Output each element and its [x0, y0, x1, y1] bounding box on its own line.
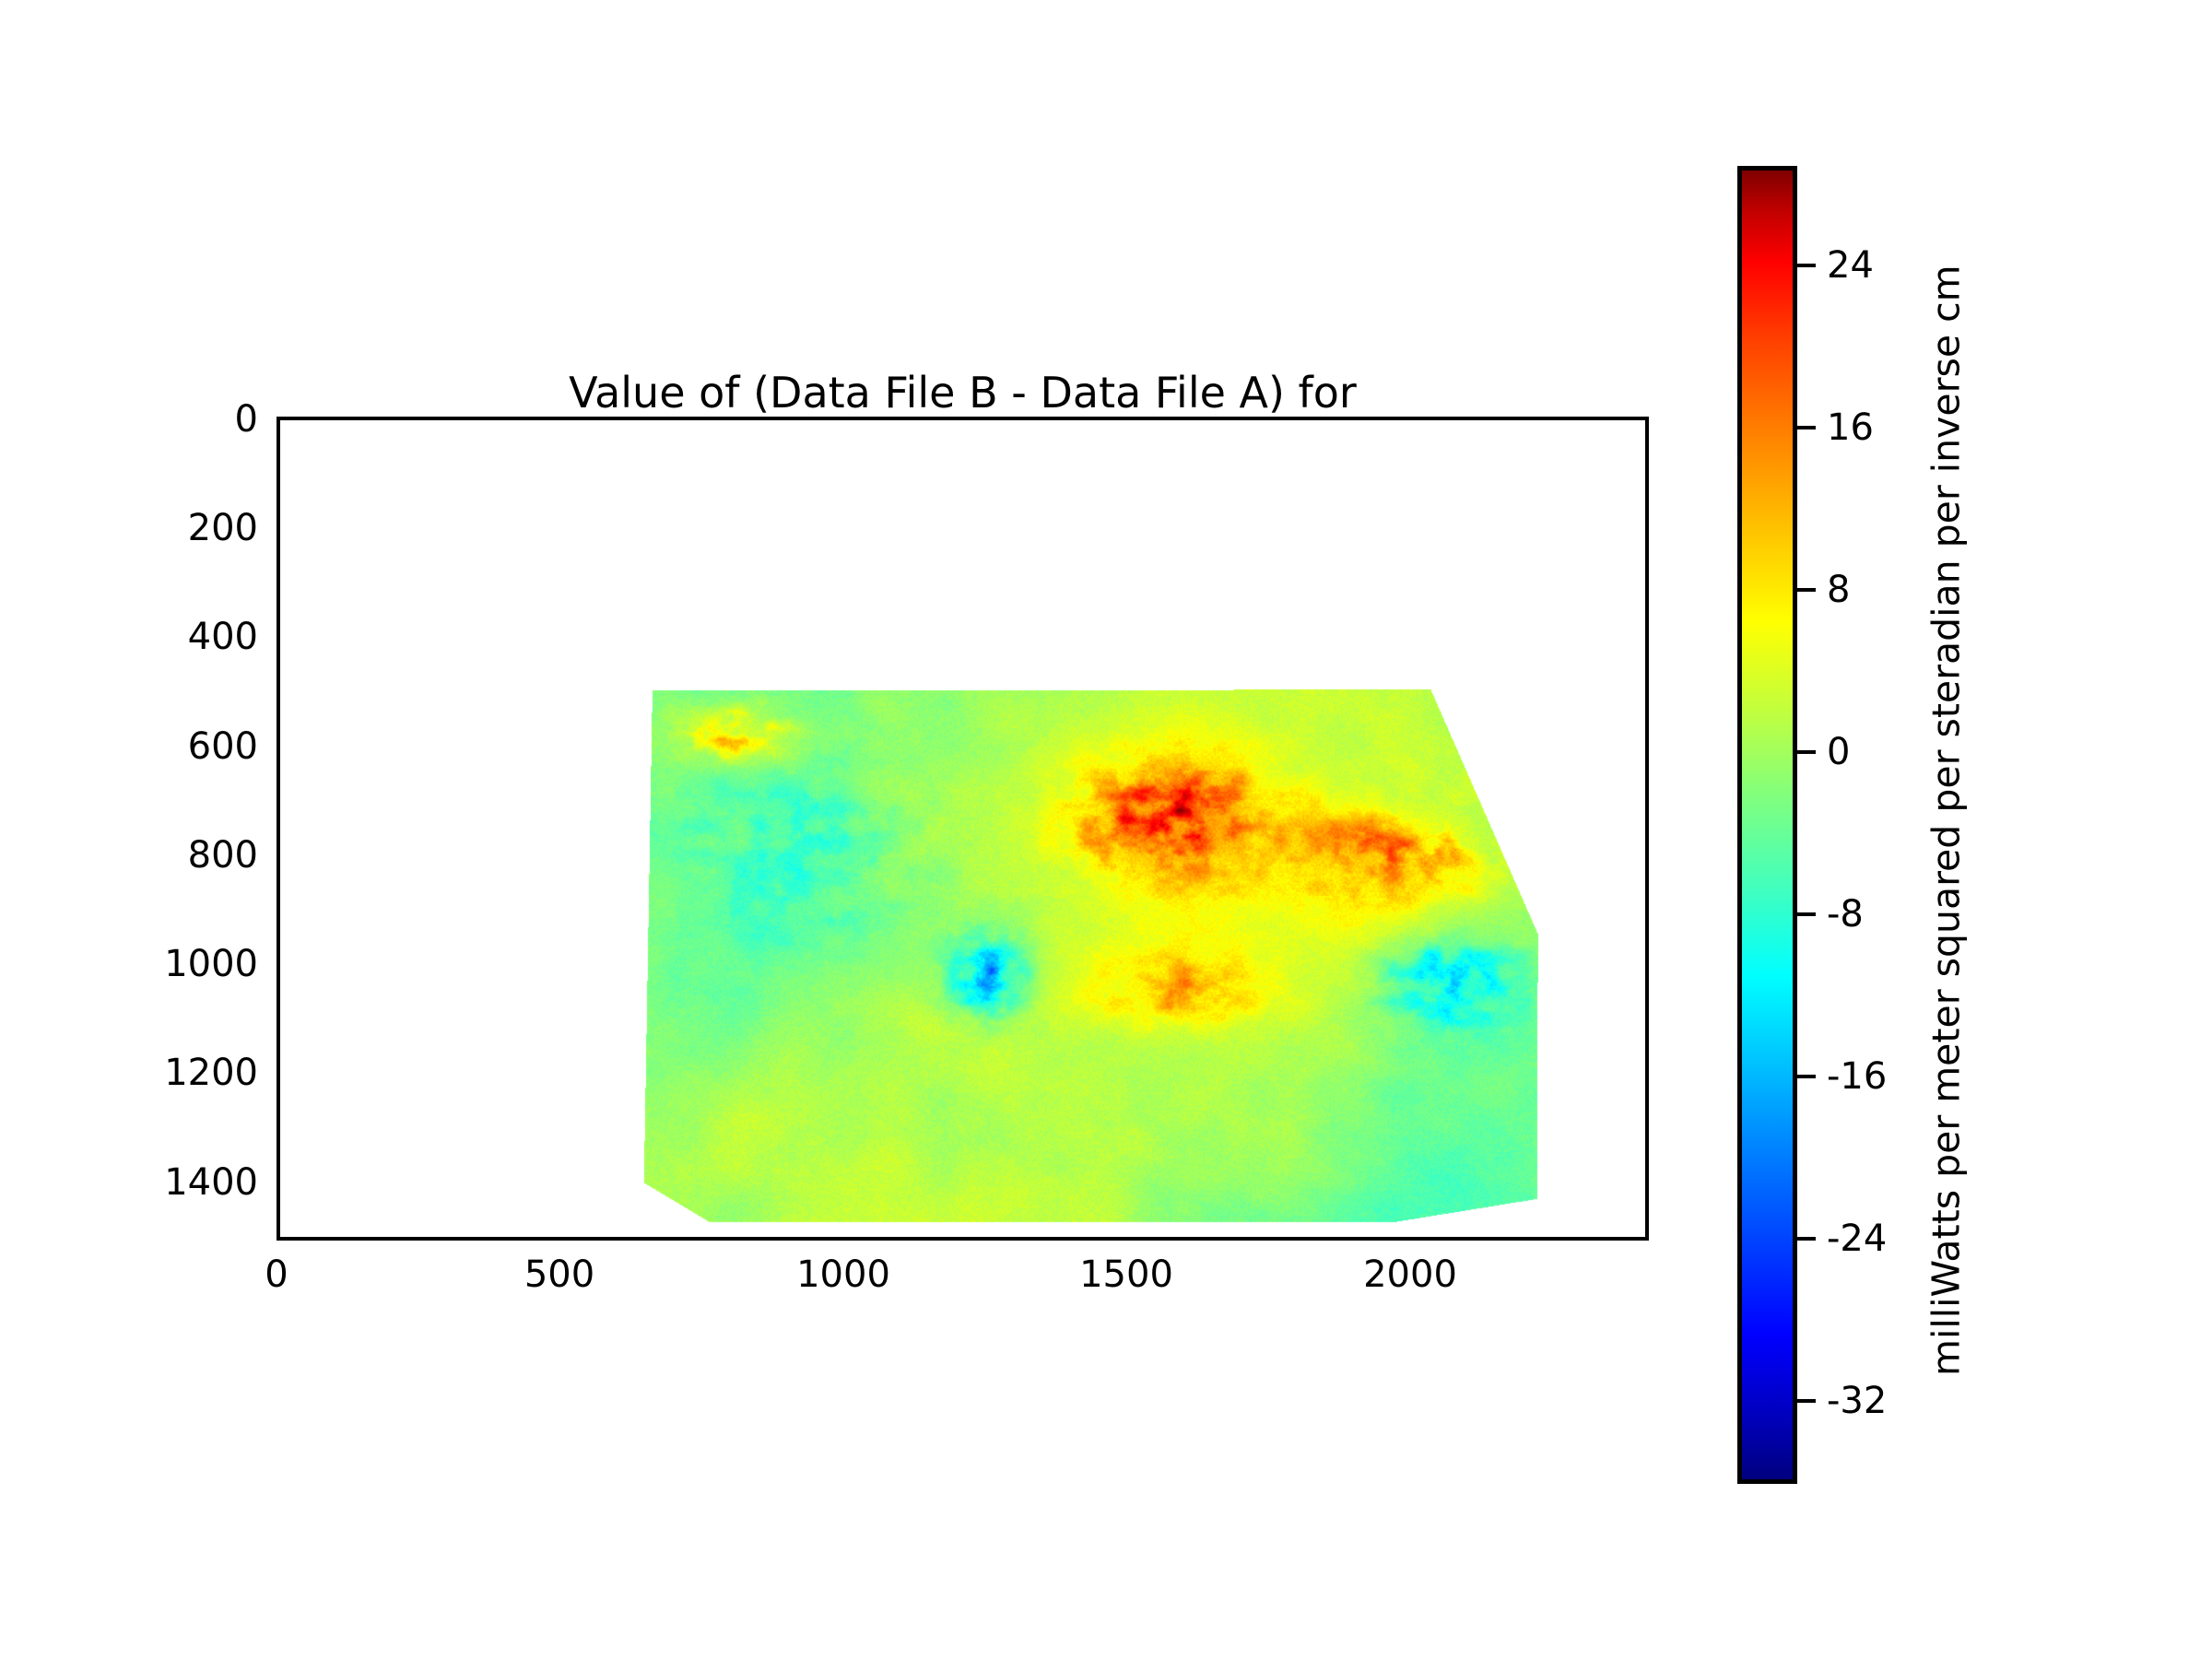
cbtick-mark-16: [1797, 426, 1816, 429]
ytick-label-600: 600: [120, 725, 258, 768]
cbtick-mark-neg32: [1797, 1399, 1816, 1403]
cbtick-mark-neg24: [1797, 1237, 1816, 1241]
ytick-label-400: 400: [120, 616, 258, 658]
heatmap-image: [280, 420, 1645, 1237]
cbtick-label-8: 8: [1827, 569, 1850, 611]
cbtick-mark-8: [1797, 588, 1816, 592]
ytick-label-1200: 1200: [120, 1052, 258, 1094]
cbtick-label-neg24: -24: [1827, 1218, 1887, 1260]
figure-canvas: Value of (Data File B - Data File A) for…: [0, 0, 2212, 1659]
cbtick-label-16: 16: [1827, 406, 1874, 449]
cbtick-mark-24: [1797, 264, 1816, 267]
ytick-label-200: 200: [120, 507, 258, 549]
cbtick-label-0: 0: [1827, 731, 1850, 773]
xtick-label-1000: 1000: [796, 1253, 890, 1296]
cbtick-label-neg32: -32: [1827, 1380, 1887, 1422]
cbtick-mark-neg8: [1797, 912, 1816, 916]
main-plot-axes[interactable]: [276, 417, 1649, 1241]
title-line-1: Value of (Data File B - Data File A) for: [276, 370, 1649, 418]
ytick-label-800: 800: [120, 834, 258, 877]
cbtick-mark-neg16: [1797, 1075, 1816, 1078]
cbtick-label-neg16: -16: [1827, 1055, 1887, 1098]
xtick-label-1500: 1500: [1079, 1253, 1173, 1296]
ytick-label-1400: 1400: [120, 1161, 258, 1204]
xtick-label-500: 500: [524, 1253, 594, 1296]
colorbar-axis-label: milliWatts per meter squared per steradi…: [1919, 157, 1974, 1484]
ytick-label-1000: 1000: [120, 943, 258, 985]
ytick-label-0: 0: [120, 398, 258, 441]
xtick-label-0: 0: [265, 1253, 288, 1296]
cbtick-label-neg8: -8: [1827, 893, 1864, 935]
colorbar-gradient[interactable]: [1737, 166, 1797, 1484]
cbtick-mark-0: [1797, 750, 1816, 754]
xtick-label-2000: 2000: [1363, 1253, 1457, 1296]
cbtick-label-24: 24: [1827, 244, 1874, 287]
